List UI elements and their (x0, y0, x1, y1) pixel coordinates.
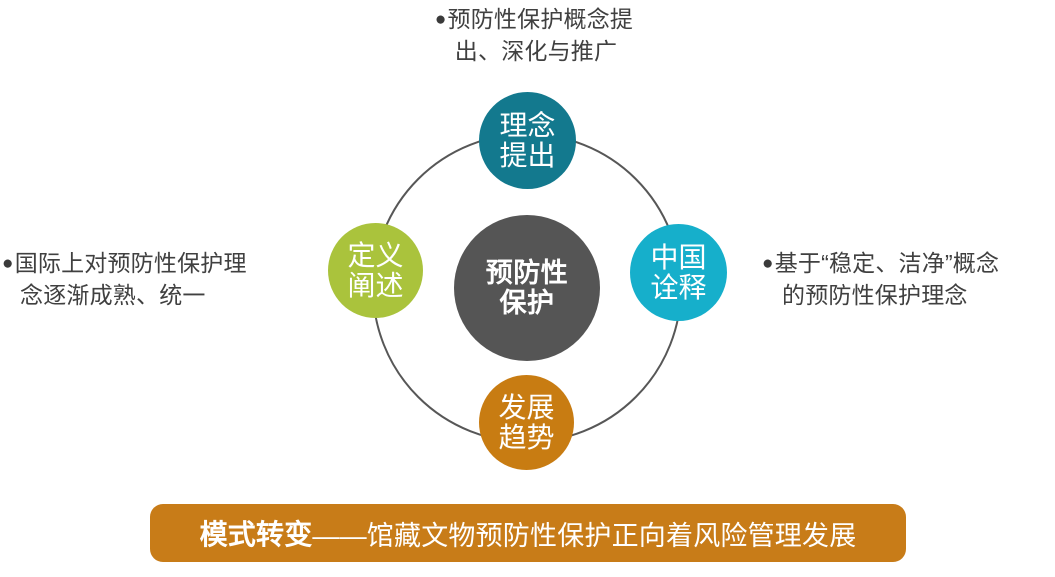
annotation-top-line1: ●预防性保护概念提 (400, 4, 668, 36)
summary-banner: 模式转变——馆藏文物预防性保护正向着风险管理发展 (150, 504, 906, 562)
node-development-trend[interactable]: 发展 趋势 (479, 375, 574, 470)
center-node-preventive-conservation: 预防性 保护 (454, 215, 600, 361)
annotation-left-text1: 国际上对预防性保护理 (15, 250, 247, 276)
annotation-left: ●国际上对预防性保护理 念逐渐成熟、统一 (2, 248, 302, 311)
diagram-canvas: ●预防性保护概念提 出、深化与推广 ●国际上对预防性保护理 念逐渐成熟、统一 ●… (0, 0, 1055, 577)
annotation-top-text1: 预防性保护概念提 (448, 6, 634, 32)
annotation-left-line1: ●国际上对预防性保护理 (2, 248, 302, 280)
node-bottom-line1: 发展 (498, 393, 554, 423)
node-definition-elaboration[interactable]: 定义 阐述 (328, 223, 423, 318)
node-top-line2: 提出 (499, 141, 555, 171)
node-left-line2: 阐述 (347, 271, 403, 301)
bullet-icon: ● (2, 253, 14, 274)
node-concept-proposal[interactable]: 理念 提出 (479, 92, 576, 189)
annotation-left-line2: 念逐渐成熟、统一 (2, 280, 302, 312)
node-top-line1: 理念 (499, 111, 555, 141)
summary-banner-lead: 模式转变 (200, 513, 313, 553)
node-bottom-line2: 趋势 (498, 423, 554, 453)
summary-banner-rest: ——馆藏文物预防性保护正向着风险管理发展 (312, 514, 856, 553)
center-node-line2: 保护 (500, 288, 555, 318)
annotation-top-line2: 出、深化与推广 (400, 36, 668, 68)
node-right-line2: 诠释 (650, 273, 706, 303)
bullet-icon: ● (762, 253, 774, 274)
bullet-icon: ● (435, 9, 447, 30)
node-right-line1: 中国 (650, 243, 706, 273)
node-china-interpretation[interactable]: 中国 诠释 (630, 224, 727, 321)
annotation-right: ●基于“稳定、洁净”概念 的预防性保护理念 (762, 248, 1055, 311)
node-left-line1: 定义 (347, 241, 403, 271)
center-node-line1: 预防性 (486, 258, 569, 288)
annotation-right-text1: 基于“稳定、洁净”概念 (775, 250, 1000, 276)
annotation-top: ●预防性保护概念提 出、深化与推广 (400, 4, 668, 67)
annotation-right-line2: 的预防性保护理念 (762, 280, 1055, 312)
annotation-right-line1: ●基于“稳定、洁净”概念 (762, 248, 1055, 280)
